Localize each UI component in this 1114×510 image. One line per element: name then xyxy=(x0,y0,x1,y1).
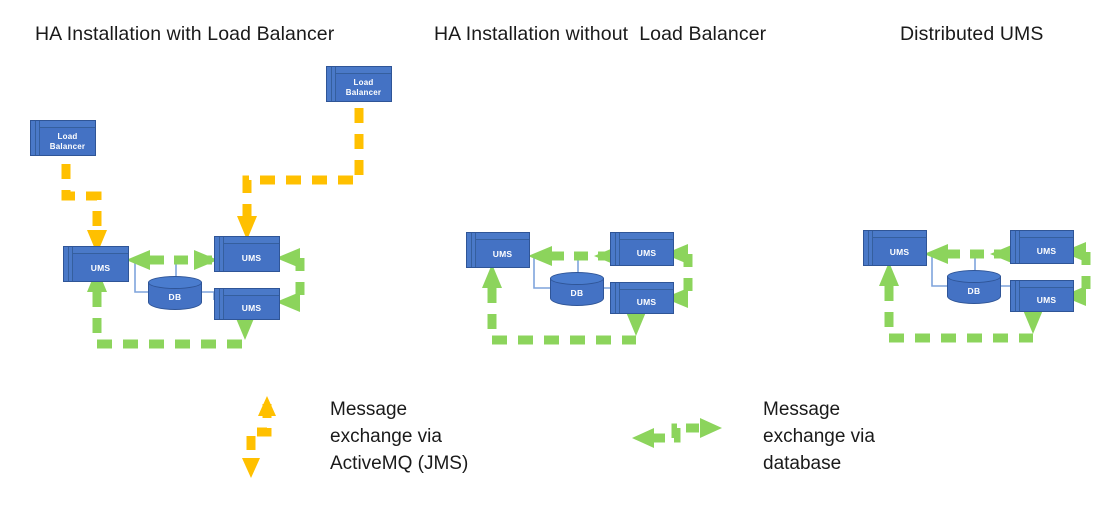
node-top-band xyxy=(467,233,529,240)
node-label: DB xyxy=(550,288,604,298)
node-top-band xyxy=(215,289,279,296)
cylinder-top xyxy=(550,272,604,285)
node-top-band xyxy=(31,121,95,128)
diagram-canvas: HA Installation with Load Balancer HA In… xyxy=(0,0,1114,510)
node-ums-top-right-p3[interactable]: UMS xyxy=(1010,230,1074,264)
node-top-band xyxy=(864,231,926,238)
legend-db-arrow-glyph xyxy=(632,418,722,448)
node-left-band xyxy=(1011,281,1020,311)
node-top-band xyxy=(64,247,128,254)
node-top-band xyxy=(611,283,673,290)
node-label: UMS xyxy=(874,239,925,265)
node-label: DB xyxy=(947,286,1001,296)
node-ums-left-p3[interactable]: UMS xyxy=(863,230,927,266)
node-load-balancer-left[interactable]: Load Balancer xyxy=(30,120,96,156)
node-left-band xyxy=(31,121,40,155)
node-ums-bottom-right-p2[interactable]: UMS xyxy=(610,282,674,314)
node-label: UMS xyxy=(477,241,528,267)
node-top-band xyxy=(215,237,279,244)
node-label: UMS xyxy=(1021,289,1072,311)
node-label: Load Balancer xyxy=(337,75,390,101)
node-label: Load Balancer xyxy=(41,129,94,155)
node-left-band xyxy=(64,247,73,281)
legend-jms-arrow-glyph xyxy=(242,396,276,478)
node-ums-left-p2[interactable]: UMS xyxy=(466,232,530,268)
node-label: UMS xyxy=(74,255,127,281)
node-top-band xyxy=(1011,231,1073,238)
cylinder-top xyxy=(148,276,202,289)
node-left-band xyxy=(467,233,476,267)
jms-arrows-panel1 xyxy=(56,70,369,254)
node-left-band xyxy=(611,283,620,313)
node-left-band xyxy=(611,233,620,265)
node-load-balancer-right[interactable]: Load Balancer xyxy=(326,66,392,102)
node-database-p3[interactable]: DB xyxy=(947,270,1001,304)
node-ums-left[interactable]: UMS xyxy=(63,246,129,282)
legend-label-database: Message exchange via database xyxy=(763,396,875,477)
node-database[interactable]: DB xyxy=(148,276,202,310)
node-top-band xyxy=(611,233,673,240)
node-ums-bottom-right-p3[interactable]: UMS xyxy=(1010,280,1074,312)
node-label: UMS xyxy=(621,241,672,265)
node-ums-top-right-p2[interactable]: UMS xyxy=(610,232,674,266)
node-top-band xyxy=(1011,281,1073,288)
node-label: DB xyxy=(148,292,202,302)
node-left-band xyxy=(1011,231,1020,263)
node-left-band xyxy=(864,231,873,265)
legend-label-jms: Message exchange via ActiveMQ (JMS) xyxy=(330,396,468,477)
node-label: UMS xyxy=(621,291,672,313)
node-ums-top-right[interactable]: UMS xyxy=(214,236,280,272)
node-top-band xyxy=(327,67,391,74)
connector-layer xyxy=(0,0,1114,510)
node-left-band xyxy=(215,289,224,319)
node-label: UMS xyxy=(225,245,278,271)
node-database-p2[interactable]: DB xyxy=(550,272,604,306)
cylinder-top xyxy=(947,270,1001,283)
node-left-band xyxy=(327,67,336,101)
node-label: UMS xyxy=(225,297,278,319)
node-label: UMS xyxy=(1021,239,1072,263)
node-ums-bottom-right[interactable]: UMS xyxy=(214,288,280,320)
node-left-band xyxy=(215,237,224,271)
